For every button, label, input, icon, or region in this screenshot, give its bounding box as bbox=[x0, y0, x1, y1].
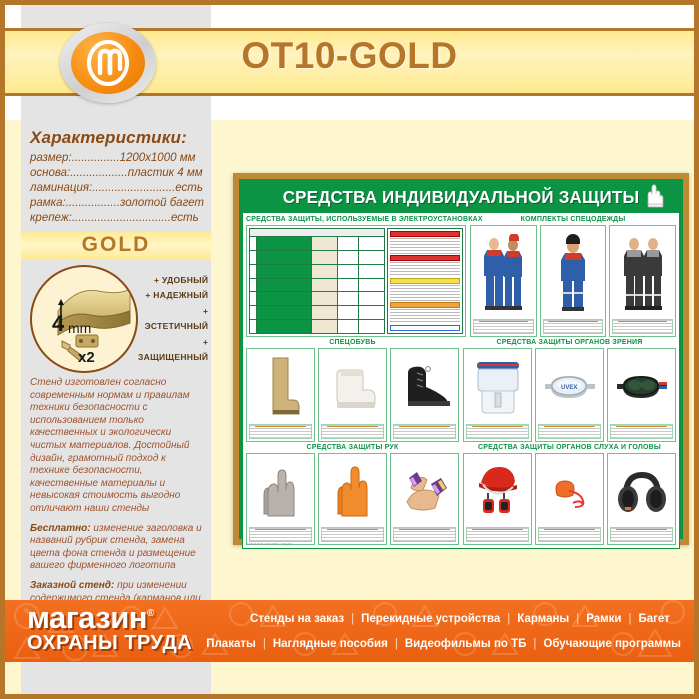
black-ear-defenders-photo bbox=[610, 456, 673, 526]
cell-num bbox=[250, 237, 257, 250]
item-caption bbox=[466, 424, 529, 439]
poster-watermark: магазин охраны труда bbox=[247, 541, 292, 546]
spec-label: крепеж: bbox=[30, 212, 72, 224]
gold-baguette-profile-icon: 4 mm x2 bbox=[30, 265, 138, 373]
poster-row-2: СПЕЦОБУВЬ bbox=[246, 338, 676, 442]
specs-panel: Характеристики: размер:...............12… bbox=[21, 120, 211, 610]
item-caption bbox=[249, 527, 312, 542]
poster-row-3: СРЕДСТВА ЗАЩИТЫ РУК bbox=[246, 443, 676, 545]
poster-item bbox=[246, 453, 315, 545]
cell-num bbox=[250, 320, 257, 333]
poster-content: СРЕДСТВА ЗАЩИТЫ, ИСПОЛЬЗУЕМЫЕ В ЭЛЕКТРОУ… bbox=[242, 212, 680, 549]
section-heading: КОМПЛЕКТЫ СПЕЦОДЕЖДЫ bbox=[470, 215, 676, 225]
poster-item bbox=[318, 348, 387, 442]
ears-cells bbox=[463, 453, 676, 545]
electro-protection-table bbox=[249, 228, 385, 334]
spec-row-frame: рамка:.................золотой багет bbox=[30, 196, 202, 211]
item-caption bbox=[610, 424, 673, 439]
cell-num bbox=[250, 251, 257, 264]
cell-num bbox=[250, 292, 257, 305]
electro-table-panel bbox=[246, 225, 466, 337]
poster-row-1: СРЕДСТВА ЗАЩИТЫ, ИСПОЛЬЗУЕМЫЕ В ЭЛЕКТРОУ… bbox=[246, 215, 676, 337]
section-heading: СРЕДСТВА ЗАЩИТЫ ОРГАНОВ ЗРЕНИЯ bbox=[463, 338, 676, 348]
poster-item bbox=[607, 348, 676, 442]
poster-item: UVEX bbox=[535, 348, 604, 442]
poster-item bbox=[463, 348, 532, 442]
cell-desc bbox=[257, 306, 312, 319]
item-caption bbox=[610, 527, 673, 542]
site-footer: магазин® ОХРАНЫ ТРУДА Стенды на заказ | … bbox=[5, 600, 694, 662]
section-heading: СРЕДСТВА ЗАЩИТЫ ОРГАНОВ СЛУХА И ГОЛОВЫ bbox=[463, 443, 676, 453]
plakat-yellow-bar bbox=[390, 278, 460, 284]
section-heading: СПЕЦОБУВЬ bbox=[246, 338, 459, 348]
poster-item bbox=[318, 453, 387, 545]
spec-label: рамка: bbox=[30, 197, 66, 209]
footer-link-custom-stands[interactable]: Стенды на заказ bbox=[243, 613, 351, 625]
rubber-boot-photo bbox=[249, 351, 312, 423]
poster-preview[interactable]: СРЕДСТВА ИНДИВИДУАЛЬНОЙ ЗАЩИТЫ СРЕДСТВА … bbox=[233, 173, 689, 545]
section-heading: СРЕДСТВА ЗАЩИТЫ РУК bbox=[246, 443, 459, 453]
poster-item bbox=[540, 225, 607, 337]
item-caption bbox=[543, 319, 604, 334]
spec-row-lamination: ламинация:..........................есть bbox=[30, 181, 202, 196]
spec-row-size: размер:...............1200x1000 мм bbox=[30, 151, 202, 166]
item-caption bbox=[538, 424, 601, 439]
poster-green-board: СРЕДСТВА ИНДИВИДУАЛЬНОЙ ЗАЩИТЫ СРЕДСТВА … bbox=[239, 179, 683, 539]
footer-link-safety-videos[interactable]: Видеофильмы по ТБ bbox=[398, 638, 534, 650]
item-caption bbox=[249, 424, 312, 439]
cell-qty bbox=[338, 320, 359, 333]
benefit-list: + УДОБНЫЙ + НАДЕЖНЫЙ + ЭСТЕТИЧНЫЙ + ЗАЩИ… bbox=[138, 273, 210, 366]
spec-row-base: основа:..................пластик 4 мм bbox=[30, 166, 202, 181]
orange-ear-plugs-photo bbox=[538, 456, 601, 526]
cell-qty bbox=[338, 237, 359, 250]
cell-desc bbox=[257, 292, 312, 305]
shop-logo-text: магазин bbox=[27, 600, 147, 635]
cell-num bbox=[250, 265, 257, 278]
grey-fabric-gloves-photo bbox=[249, 456, 312, 526]
orange-rubber-gloves-photo bbox=[321, 456, 384, 526]
registered-mark-icon: ® bbox=[147, 600, 154, 629]
poster-title: СРЕДСТВА ИНДИВИДУАЛЬНОЙ ЗАЩИТЫ bbox=[283, 187, 640, 207]
product-sku: OT10-GOLD bbox=[5, 35, 694, 77]
cell-image bbox=[312, 306, 338, 319]
footer-nav-row-1: Стенды на заказ | Перекидные устройства … bbox=[243, 606, 688, 631]
table-header bbox=[250, 229, 384, 237]
poster-section-boots: СПЕЦОБУВЬ bbox=[246, 338, 459, 442]
item-caption bbox=[393, 527, 456, 542]
svg-text:x2: x2 bbox=[78, 349, 95, 366]
cell-note bbox=[359, 279, 384, 292]
table-row bbox=[250, 251, 384, 265]
spec-value: пластик 4 мм bbox=[128, 167, 203, 179]
plakat-text bbox=[390, 285, 460, 301]
spec-value: есть bbox=[171, 212, 199, 224]
poster-item bbox=[607, 453, 676, 545]
plakat-text bbox=[390, 309, 460, 325]
cell-image bbox=[312, 251, 338, 264]
cell-note bbox=[359, 251, 384, 264]
table-row bbox=[250, 237, 384, 251]
benefit-item: + УДОБНЫЙ bbox=[138, 273, 208, 289]
knitted-work-mittens-photo bbox=[393, 456, 456, 526]
section-heading: СРЕДСТВА ЗАЩИТЫ, ИСПОЛЬЗУЕМЫЕ В ЭЛЕКТРОУ… bbox=[246, 215, 466, 225]
page-header: OT10-GOLD bbox=[5, 5, 694, 120]
item-caption bbox=[538, 527, 601, 542]
plakat-text bbox=[390, 262, 460, 278]
plakat-red-bar bbox=[390, 255, 460, 261]
footer-link-posters[interactable]: Плакаты bbox=[199, 638, 263, 650]
footer-link-baguette[interactable]: Багет bbox=[631, 613, 676, 625]
poster-item bbox=[390, 453, 459, 545]
item-caption bbox=[473, 319, 534, 334]
safety-zone-plakat bbox=[387, 228, 463, 334]
poster-item bbox=[246, 348, 315, 442]
cell-image bbox=[312, 279, 338, 292]
worker-pair-blue-overalls-photo bbox=[473, 228, 534, 318]
table-row bbox=[250, 320, 384, 333]
clear-goggles-uvex-photo: UVEX bbox=[538, 351, 601, 423]
spec-value: есть bbox=[175, 182, 203, 194]
cell-num bbox=[250, 279, 257, 292]
cell-image bbox=[312, 237, 338, 250]
spec-dots: .................. bbox=[70, 167, 128, 179]
poster-section-electro: СРЕДСТВА ЗАЩИТЫ, ИСПОЛЬЗУЕМЫЕ В ЭЛЕКТРОУ… bbox=[246, 215, 466, 337]
spec-dots: ............... bbox=[72, 152, 120, 164]
item-caption bbox=[321, 527, 384, 542]
specs-title: Характеристики: bbox=[30, 128, 202, 148]
cell-note bbox=[359, 237, 384, 250]
black-safety-boot-photo bbox=[393, 351, 456, 423]
item-caption bbox=[612, 319, 673, 334]
spec-value: 1200x1000 мм bbox=[120, 152, 196, 164]
product-page: OT10-GOLD Характеристики: размер:.......… bbox=[0, 0, 699, 699]
poster-section-ears: СРЕДСТВА ЗАЩИТЫ ОРГАНОВ СЛУХА И ГОЛОВЫ bbox=[463, 443, 676, 545]
face-shield-uvex-photo bbox=[466, 351, 529, 423]
poster-item bbox=[535, 453, 604, 545]
cell-desc bbox=[257, 320, 312, 333]
shop-logo-line1: магазин® bbox=[27, 603, 235, 633]
workwear-cells bbox=[470, 225, 676, 337]
dark-welding-goggles-photo bbox=[610, 351, 673, 423]
cell-qty bbox=[338, 292, 359, 305]
table-row bbox=[250, 292, 384, 306]
description-paragraph-manufacture: Стенд изготовлен согласно современным но… bbox=[30, 377, 202, 516]
cell-desc bbox=[257, 251, 312, 264]
poster-item bbox=[390, 348, 459, 442]
custom-lead: Заказной стенд: bbox=[30, 580, 114, 591]
cell-qty bbox=[338, 279, 359, 292]
eyes-cells: UVEX bbox=[463, 348, 676, 442]
poster-item bbox=[609, 225, 676, 337]
cell-qty bbox=[338, 251, 359, 264]
felt-boot-photo bbox=[321, 351, 384, 423]
cell-note bbox=[359, 265, 384, 278]
svg-text:UVEX: UVEX bbox=[561, 385, 577, 391]
cell-desc bbox=[257, 265, 312, 278]
plakat-red-bar bbox=[390, 231, 460, 237]
spec-label: ламинация: bbox=[30, 182, 92, 194]
grade-badge: GOLD bbox=[21, 231, 211, 260]
plakat-text bbox=[390, 238, 460, 254]
cell-qty bbox=[338, 265, 359, 278]
item-caption bbox=[466, 527, 529, 542]
footer-link-frames[interactable]: Рамки bbox=[579, 613, 628, 625]
benefit-item: + ЭСТЕТИЧНЫЙ bbox=[138, 304, 208, 335]
item-caption bbox=[321, 424, 384, 439]
poster-section-workwear: КОМПЛЕКТЫ СПЕЦОДЕЖДЫ bbox=[470, 215, 676, 337]
table-row bbox=[250, 306, 384, 320]
cell-num bbox=[250, 306, 257, 319]
spec-dots: ................. bbox=[66, 197, 120, 209]
poster-title-bar: СРЕДСТВА ИНДИВИДУАЛЬНОЙ ЗАЩИТЫ bbox=[249, 182, 674, 212]
cell-image bbox=[312, 320, 338, 333]
svg-text:4: 4 bbox=[52, 311, 65, 336]
cell-note bbox=[359, 292, 384, 305]
cell-qty bbox=[338, 306, 359, 319]
frame-illustration-row: 4 mm x2 + УДОБНЫЙ + НАДЕЖНЫЙ + ЭСТЕТИЧНЫ… bbox=[30, 265, 202, 373]
shop-logo[interactable]: магазин® ОХРАНЫ ТРУДА bbox=[27, 603, 235, 659]
boots-cells bbox=[246, 348, 459, 442]
hands-cells bbox=[246, 453, 459, 545]
footer-link-training-programs[interactable]: Обучающие программы bbox=[536, 638, 688, 650]
cell-image bbox=[312, 292, 338, 305]
poster-section-eyes: СРЕДСТВА ЗАЩИТЫ ОРГАНОВ ЗРЕНИЯ bbox=[463, 338, 676, 442]
poster-item bbox=[463, 453, 532, 545]
spec-label: размер: bbox=[30, 152, 72, 164]
item-caption bbox=[393, 424, 456, 439]
footer-nav: Стенды на заказ | Перекидные устройства … bbox=[243, 606, 688, 656]
spec-value: золотой багет bbox=[120, 197, 204, 209]
cell-note bbox=[359, 306, 384, 319]
footer-link-pockets[interactable]: Карманы bbox=[510, 613, 576, 625]
table-row bbox=[250, 265, 384, 279]
footer-link-flip-displays[interactable]: Перекидные устройства bbox=[354, 613, 507, 625]
benefit-item: + НАДЕЖНЫЙ bbox=[138, 288, 208, 304]
benefit-item: + ЗАЩИЩЕННЫЙ bbox=[138, 335, 208, 366]
footer-link-visual-aids[interactable]: Наглядные пособия bbox=[266, 638, 395, 650]
spec-dots: .......................... bbox=[92, 182, 175, 194]
description-paragraph-free: Бесплатно: изменение заголовка и названи… bbox=[30, 523, 202, 573]
footer-nav-row-2: Плакаты | Наглядные пособия | Видеофильм… bbox=[243, 631, 688, 656]
red-helmet-with-earmuffs-photo bbox=[466, 456, 529, 526]
poster-item bbox=[470, 225, 537, 337]
cell-desc bbox=[257, 279, 312, 292]
spec-label: основа: bbox=[30, 167, 70, 179]
free-lead: Бесплатно: bbox=[30, 523, 91, 534]
worker-pair-grey-overalls-photo bbox=[612, 228, 673, 318]
plakat-blue-bar bbox=[390, 325, 460, 331]
plakat-orange-bar bbox=[390, 302, 460, 308]
worker-blue-overalls-helmet-photo bbox=[543, 228, 604, 318]
spec-dots: ............................... bbox=[72, 212, 171, 224]
cell-note bbox=[359, 320, 384, 333]
cell-desc bbox=[257, 237, 312, 250]
table-row bbox=[250, 279, 384, 293]
poster-section-hands: СРЕДСТВА ЗАЩИТЫ РУК bbox=[246, 443, 459, 545]
svg-text:mm: mm bbox=[68, 320, 91, 336]
cell-image bbox=[312, 265, 338, 278]
left-panel-bottom-strip bbox=[21, 662, 211, 694]
spec-row-mount: крепеж:...............................ес… bbox=[30, 211, 202, 226]
